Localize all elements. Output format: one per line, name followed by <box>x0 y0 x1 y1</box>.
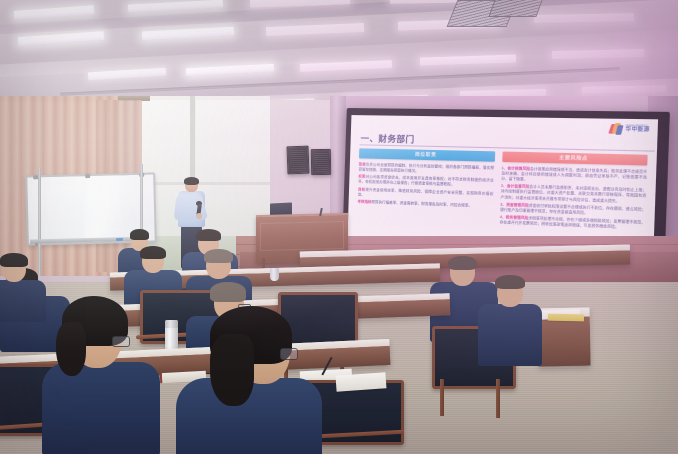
slide-title: 一、财务部门 <box>360 132 414 145</box>
attendee <box>42 300 160 454</box>
paragraph: 1、会计核算风险会计政策应用错误或不当，造成会计信息失真；账务处理不合规范不及时… <box>501 166 647 186</box>
company-logo: CHINA ENERGY 华中能源 <box>609 123 649 135</box>
wall-speaker <box>311 149 331 175</box>
presenter-hand <box>196 213 202 219</box>
column-header-risks: 主要风险点 <box>502 152 648 166</box>
presenter-hair <box>184 177 199 185</box>
whiteboard-glare <box>83 175 122 242</box>
logo-chinese-text: 华中能源 <box>625 128 649 134</box>
attendee <box>478 278 542 364</box>
attendee <box>176 308 322 454</box>
paragraph: 4、税务管理风险涉税事项处理不合规，存在少缴或多缴税款风险；发票管理不规范，存在… <box>500 215 646 231</box>
sticky-note[interactable] <box>548 314 584 322</box>
wall-speaker <box>287 146 310 175</box>
attendee <box>0 256 46 316</box>
paragraph: 2、会计监督风险会计人员未履行监督职责，未对违规支出、虚假业务及时制止上报；对内… <box>500 184 646 205</box>
logo-mark-icon <box>609 123 623 135</box>
column-header-duties: 岗位职责 <box>359 148 495 161</box>
conference-room-photo: CHINA ENERGY 华中能源 一、财务部门 岗位职责 职责负责公司全面预算… <box>0 0 678 454</box>
water-cup[interactable] <box>270 268 279 281</box>
